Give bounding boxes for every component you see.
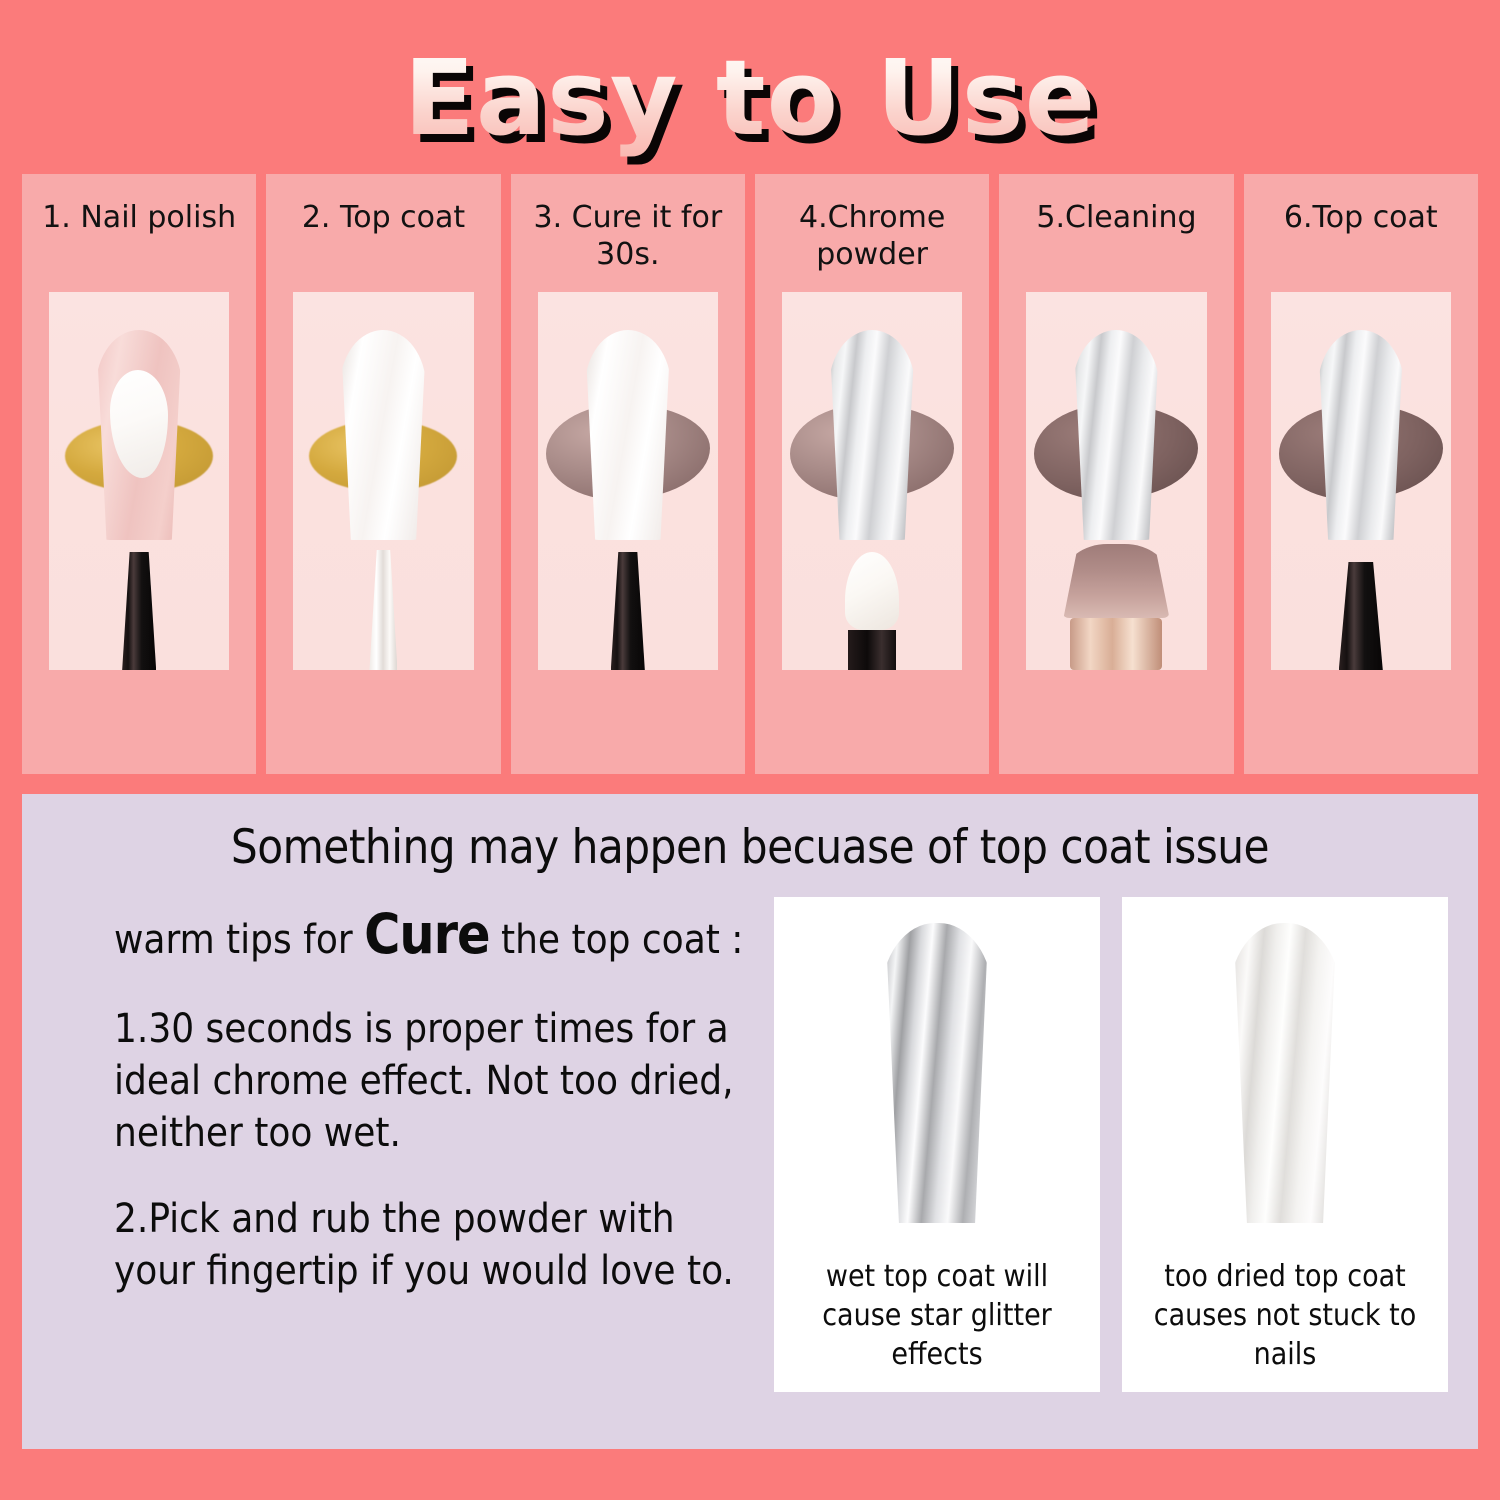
tips-panel: Something may happen becuase of top coat… [22, 794, 1478, 1449]
step-photo-4 [782, 292, 962, 670]
tips-text-column: warm tips for Cure the top coat : 1.30 s… [52, 891, 752, 1427]
nail-tip [1073, 330, 1159, 540]
step-photo-6 [1271, 292, 1451, 670]
black-brush-icon [1339, 562, 1383, 670]
page-title: Easy to Use Easy to Use [404, 46, 1096, 150]
page-title-text: Easy to Use [404, 37, 1096, 159]
step-card-2[interactable]: 2. Top coat [266, 174, 500, 774]
step-card-6[interactable]: 6.Top coat [1244, 174, 1478, 774]
step-photo-2 [293, 292, 473, 670]
comparison-card-wet[interactable]: wet top coat will cause star glitter eff… [774, 897, 1100, 1392]
tips-intro: warm tips for Cure the top coat : [114, 899, 752, 969]
step-label: 4.Chrome powder [764, 200, 980, 286]
tips-intro-before: warm tips for [114, 917, 364, 963]
pearl-nail-sample [1229, 923, 1341, 1223]
tip-item-2: 2.Pick and rub the powder with your fing… [114, 1193, 752, 1297]
fan-brush-bristles [1063, 544, 1169, 618]
steps-strip: 1. Nail polish 2. Top coat 3. Cure it fo… [22, 174, 1478, 774]
black-brush-icon [611, 552, 645, 670]
infographic-canvas: Easy to Use Easy to Use 1. Nail polish 2… [0, 0, 1500, 1500]
fan-brush-icon [1063, 544, 1169, 670]
step-card-5[interactable]: 5.Cleaning [999, 174, 1233, 774]
nail-tip [340, 330, 426, 540]
nail-tip [1318, 330, 1404, 540]
chrome-nail-sample [881, 923, 993, 1223]
comparison-card-dried[interactable]: too dried top coat causes not stuck to n… [1122, 897, 1448, 1392]
step-card-3[interactable]: 3. Cure it for 30s. [511, 174, 745, 774]
tips-intro-after: the top coat : [490, 917, 744, 963]
comparison-caption: wet top coat will cause star glitter eff… [784, 1257, 1090, 1374]
tip-item-1: 1.30 seconds is proper times for a ideal… [114, 1003, 752, 1159]
sponge-handle [848, 630, 896, 670]
nail-tip [585, 330, 671, 540]
nail-tip [829, 330, 915, 540]
tips-body: warm tips for Cure the top coat : 1.30 s… [52, 891, 1448, 1427]
comparison-caption: too dried top coat causes not stuck to n… [1132, 1257, 1438, 1374]
step-label: 6.Top coat [1253, 200, 1469, 286]
step-photo-5 [1026, 292, 1206, 670]
fan-brush-ferrule [1070, 618, 1162, 670]
comparison-row: wet top coat will cause star glitter eff… [774, 891, 1448, 1427]
step-label: 3. Cure it for 30s. [520, 200, 736, 286]
step-label: 2. Top coat [276, 200, 492, 286]
sponge-head [845, 552, 899, 630]
black-brush-icon [122, 552, 156, 670]
tips-intro-emphasis: Cure [364, 902, 490, 966]
step-label: 1. Nail polish [31, 200, 247, 286]
white-brush-icon [369, 550, 397, 670]
step-label: 5.Cleaning [1009, 200, 1225, 286]
step-card-1[interactable]: 1. Nail polish [22, 174, 256, 774]
tips-heading: Something may happen becuase of top coat… [52, 820, 1448, 875]
step-photo-1 [49, 292, 229, 670]
sponge-applicator-icon [845, 552, 899, 670]
step-photo-3 [538, 292, 718, 670]
title-banner: Easy to Use Easy to Use [22, 22, 1478, 174]
step-card-4[interactable]: 4.Chrome powder [755, 174, 989, 774]
